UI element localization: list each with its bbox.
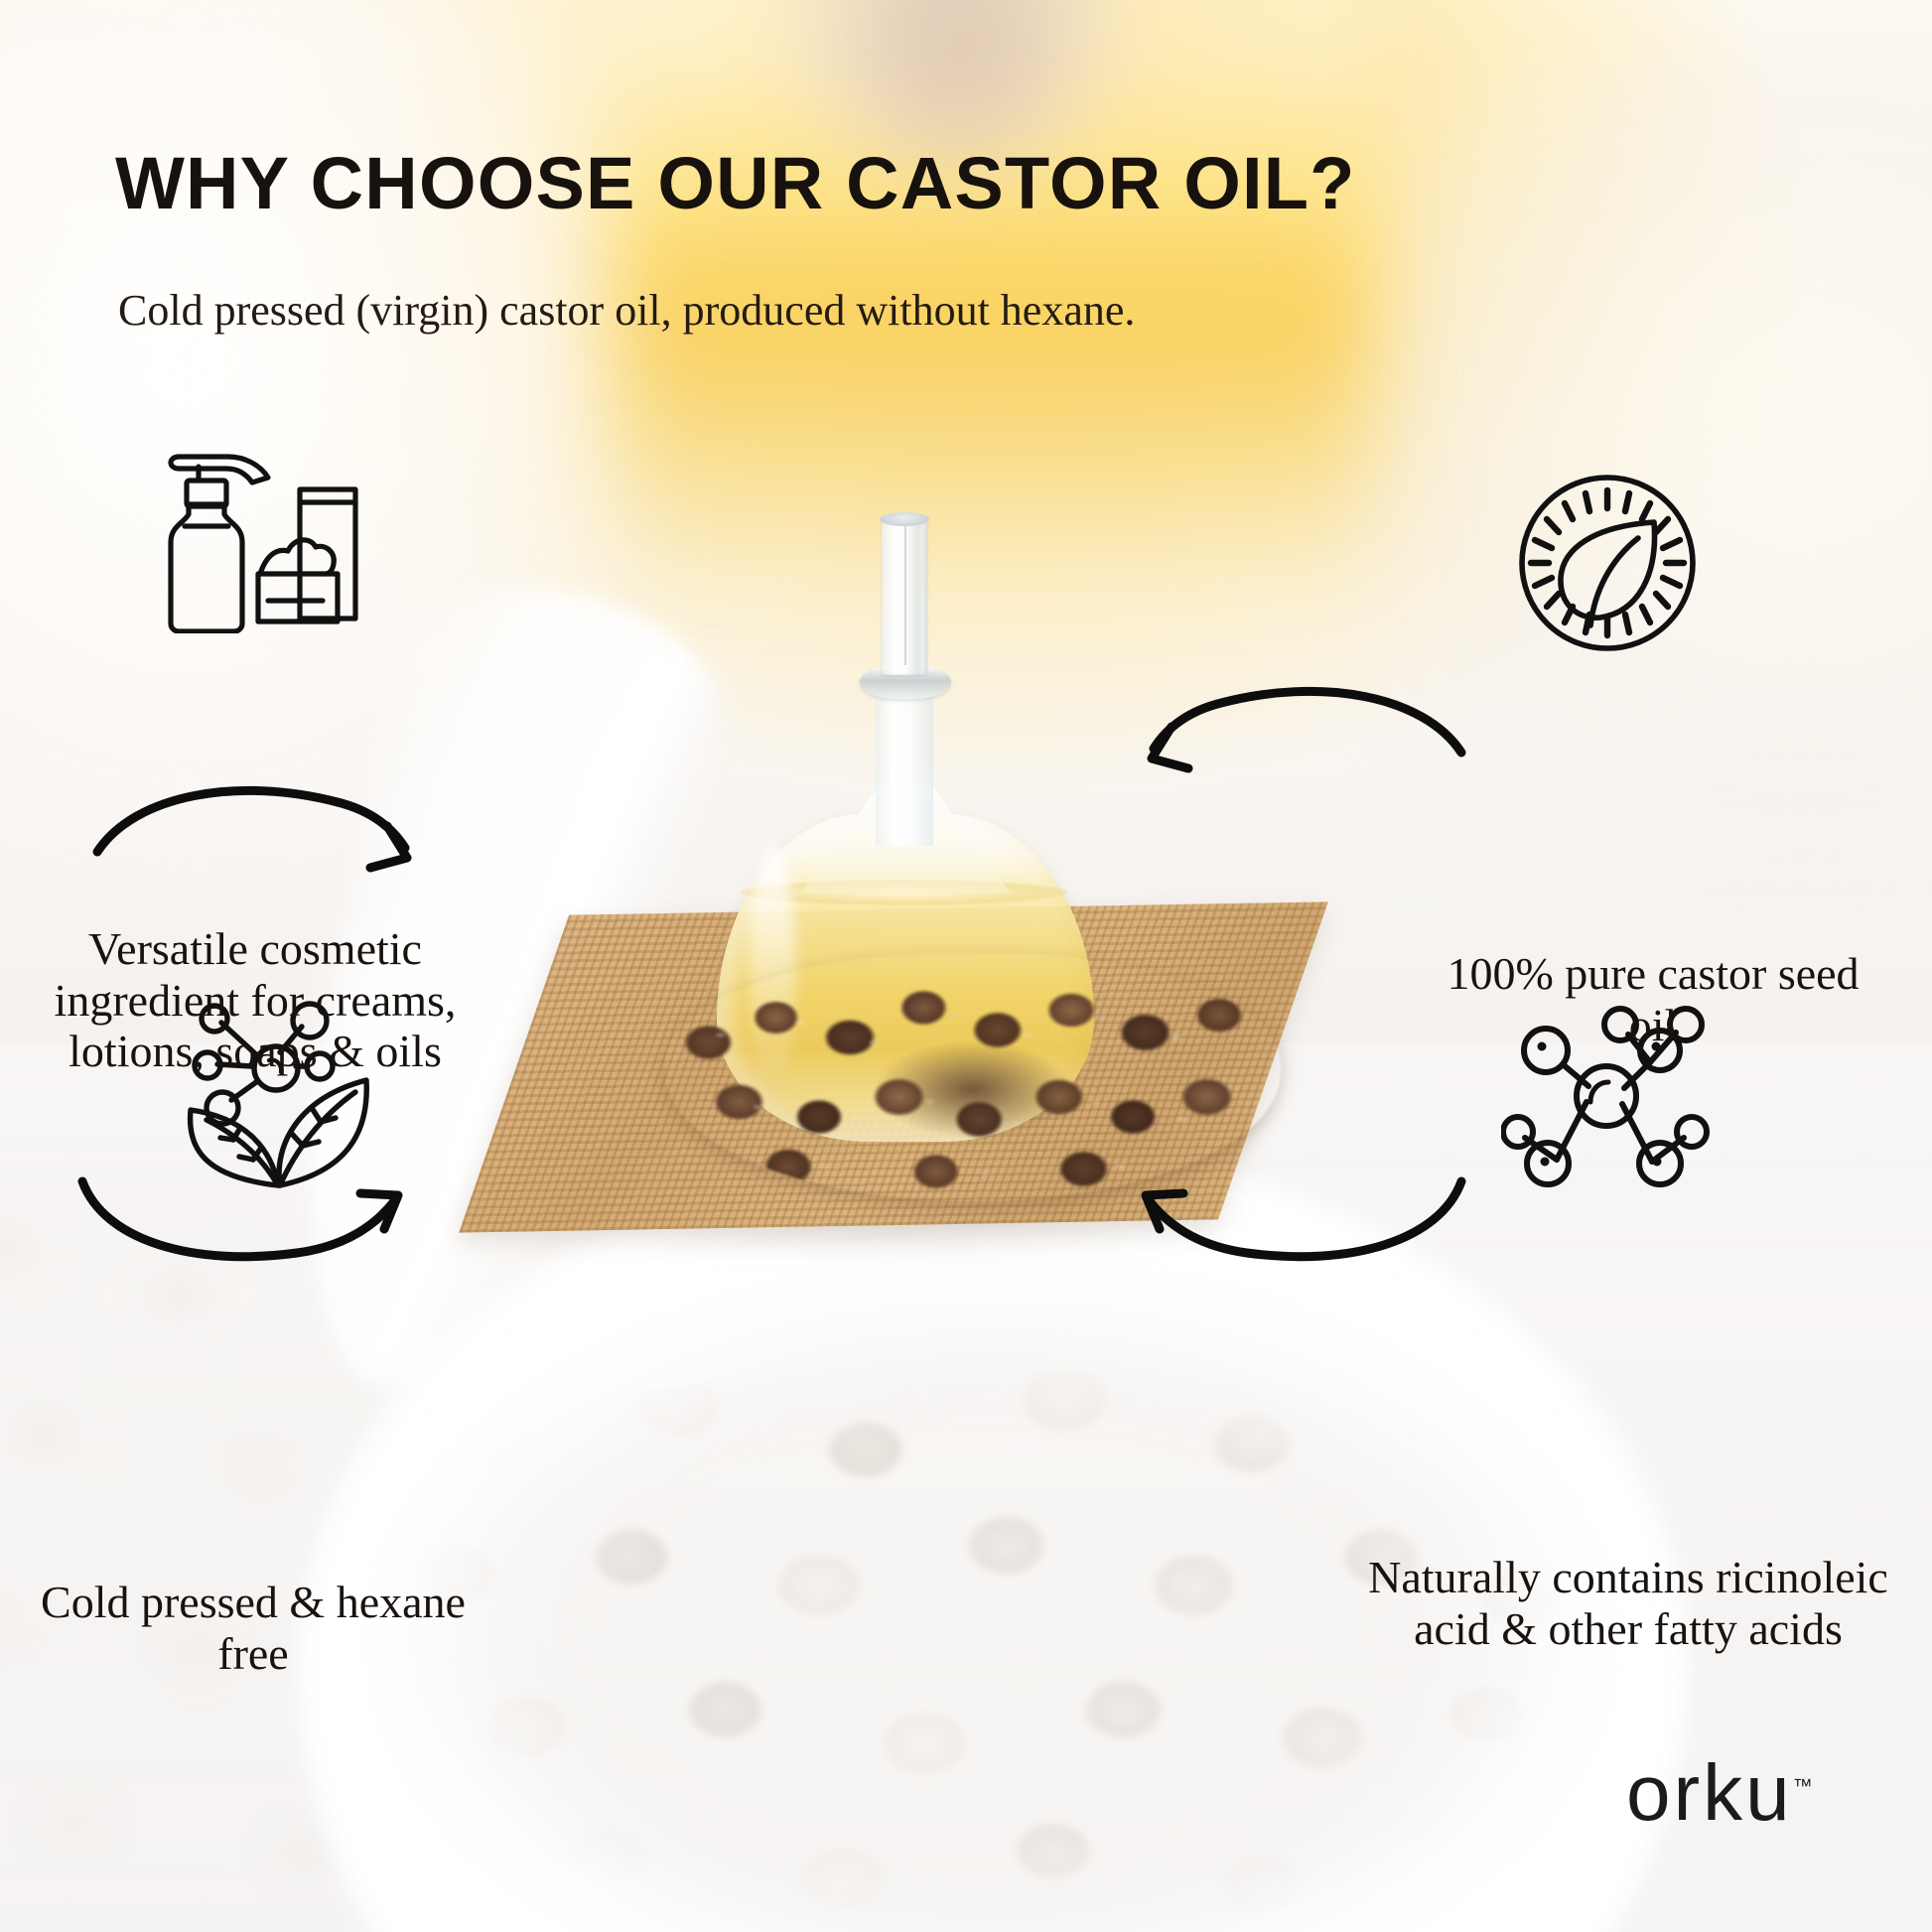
- cosmetic-bottles-icon: [149, 445, 377, 633]
- trademark-symbol: ™: [1793, 1775, 1813, 1797]
- curved-arrow-right-icon: [89, 774, 437, 923]
- callout-label-cold-pressed-hexane-free: Cold pressed & hexane free: [10, 1577, 496, 1679]
- curved-arrow-right-icon: [74, 1130, 422, 1279]
- page-subtitle: Cold pressed (virgin) castor oil, produc…: [118, 285, 1135, 336]
- leaf-in-circle-icon: [1513, 469, 1702, 657]
- callout-label-ricinoleic-fatty-acids: Naturally contains ricinoleic acid & oth…: [1350, 1552, 1906, 1654]
- bottle-neck: [876, 687, 933, 846]
- brand-logo: orku™: [1626, 1747, 1813, 1839]
- infographic-canvas: WHY CHOOSE OUR CASTOR OIL? Cold pressed …: [0, 0, 1932, 1932]
- curved-arrow-left-icon: [1122, 675, 1469, 824]
- bottle-stopper: [882, 516, 927, 675]
- brand-logo-name: orku: [1626, 1748, 1793, 1837]
- callout-label-pure-castor-seed-oil: 100% pure castor seed oil: [1420, 948, 1886, 1050]
- curved-arrow-left-icon: [1122, 1130, 1469, 1279]
- stopper-top-cap: [880, 512, 929, 526]
- page-title: WHY CHOOSE OUR CASTOR OIL?: [115, 141, 1356, 225]
- callout-label-versatile-cosmetic: Versatile cosmetic ingredient for creams…: [22, 923, 488, 1077]
